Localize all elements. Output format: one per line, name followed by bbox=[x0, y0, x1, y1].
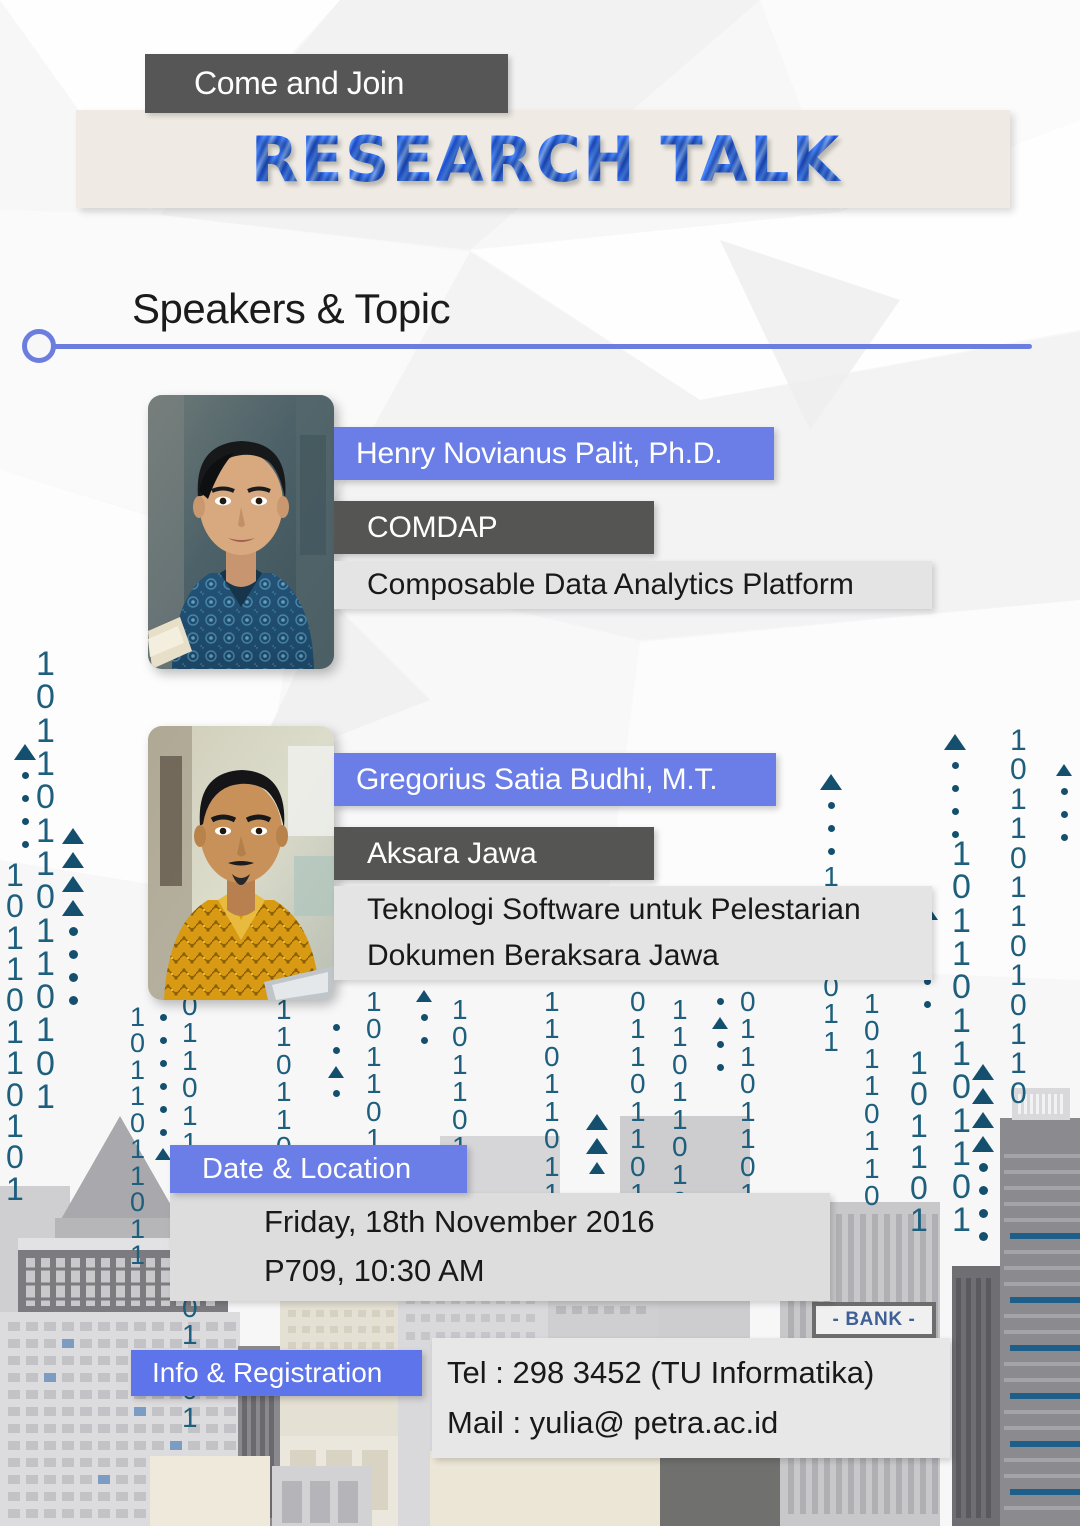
speaker-2-name: Gregorius Satia Budhi, M.T. bbox=[334, 763, 717, 797]
avatar-speaker-2 bbox=[148, 726, 334, 1000]
bank-sign-label: - BANK - bbox=[833, 1309, 916, 1331]
contact-telephone: Tel : 298 3452 (TU Informatika) bbox=[432, 1348, 950, 1398]
info-registration-label-bar: Info & Registration bbox=[131, 1350, 422, 1396]
speaker-2-description-line2: Dokumen Beraksara Jawa bbox=[334, 933, 932, 979]
page-title: RESEARCH TALK bbox=[245, 123, 842, 196]
header-kicker-bar: Come and Join bbox=[145, 54, 508, 113]
timeline-rule bbox=[52, 344, 1032, 349]
contact-email: Mail : yulia@ petra.ac.id bbox=[432, 1398, 950, 1448]
event-venue-time: P709, 10:30 AM bbox=[170, 1247, 830, 1296]
date-location-label: Date & Location bbox=[170, 1153, 411, 1186]
speaker-2-name-bar: Gregorius Satia Budhi, M.T. bbox=[334, 753, 776, 806]
date-location-label-bar: Date & Location bbox=[170, 1145, 467, 1193]
event-date: Friday, 18th November 2016 bbox=[170, 1198, 830, 1247]
info-registration-box: Tel : 298 3452 (TU Informatika) Mail : y… bbox=[432, 1338, 950, 1458]
speaker-1-name: Henry Novianus Palit, Ph.D. bbox=[334, 437, 722, 471]
speaker-1-name-bar: Henry Novianus Palit, Ph.D. bbox=[334, 427, 774, 480]
avatar-speaker-1 bbox=[148, 395, 334, 669]
speaker-1-topic: COMDAP bbox=[334, 511, 497, 545]
speaker-2-topic-bar: Aksara Jawa bbox=[334, 827, 654, 880]
speaker-1-topic-bar: COMDAP bbox=[334, 501, 654, 554]
info-registration-label: Info & Registration bbox=[131, 1357, 382, 1389]
date-location-box: Friday, 18th November 2016 P709, 10:30 A… bbox=[170, 1193, 830, 1301]
header-title-bar: RESEARCH TALK bbox=[76, 110, 1010, 208]
speaker-2-description-line1: Teknologi Software untuk Pelestarian bbox=[334, 887, 932, 933]
speaker-2-topic: Aksara Jawa bbox=[334, 837, 537, 871]
bank-sign: - BANK - bbox=[812, 1302, 936, 1338]
speaker-2-description-bar: Teknologi Software untuk Pelestarian Dok… bbox=[334, 886, 932, 980]
header-kicker-text: Come and Join bbox=[145, 65, 404, 102]
speaker-1-description-bar: Composable Data Analytics Platform bbox=[334, 561, 932, 609]
speaker-1-description: Composable Data Analytics Platform bbox=[334, 562, 932, 608]
section-heading-speakers: Speakers & Topic bbox=[132, 285, 450, 333]
poster-canvas: 10110110110101 10110110101 1011011011 bbox=[0, 0, 1080, 1526]
circle-marker-icon bbox=[22, 329, 56, 363]
